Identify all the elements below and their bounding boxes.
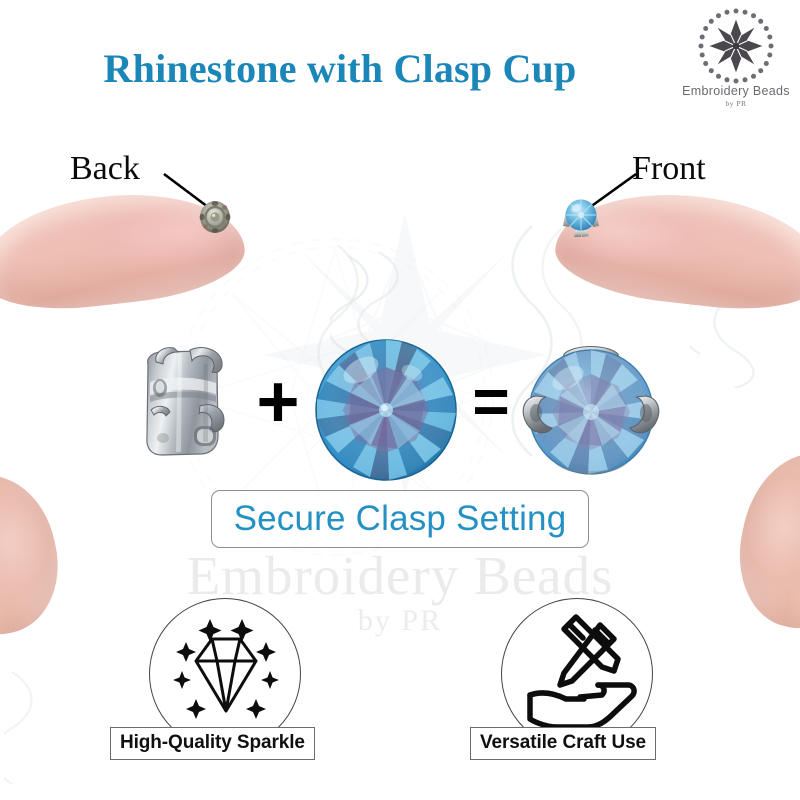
feature-versatile-craft-use: Versatile Craft Use	[462, 598, 692, 760]
brand-watermark-text: Embroidery Beads	[187, 545, 614, 606]
assembled-product-image	[520, 334, 666, 484]
plus-operator: +	[246, 372, 310, 436]
callout-label-back: Back	[70, 150, 140, 188]
page-title: Rhinestone with Clasp Cup	[0, 45, 680, 92]
logo-byline-text: by PR	[678, 99, 794, 108]
rhinestone-back-view	[196, 197, 234, 237]
callout-label-front: Front	[632, 150, 706, 188]
eight-pointed-star-mandala-icon	[678, 8, 794, 88]
secure-clasp-banner: Secure Clasp Setting	[211, 490, 589, 548]
feature-label-versatile-craft-use: Versatile Craft Use	[470, 727, 656, 760]
infographic-canvas: Embroidery Beads by PR	[0, 0, 800, 800]
feature-high-quality-sparkle: High-Quality Sparkle	[110, 598, 340, 760]
rhinestone-front-view	[560, 194, 602, 238]
lace-pattern-decoration	[4, 672, 114, 800]
secure-clasp-banner-text: Secure Clasp Setting	[234, 499, 567, 539]
clasp-cup-setting-image	[138, 338, 234, 463]
rhinestone-crystal-image	[313, 337, 459, 483]
feature-label-high-quality-sparkle: High-Quality Sparkle	[110, 727, 315, 760]
equals-operator: =	[462, 368, 520, 432]
brand-logo: Embroidery Beads by PR	[678, 8, 794, 118]
logo-brand-text: Embroidery Beads	[678, 84, 794, 98]
